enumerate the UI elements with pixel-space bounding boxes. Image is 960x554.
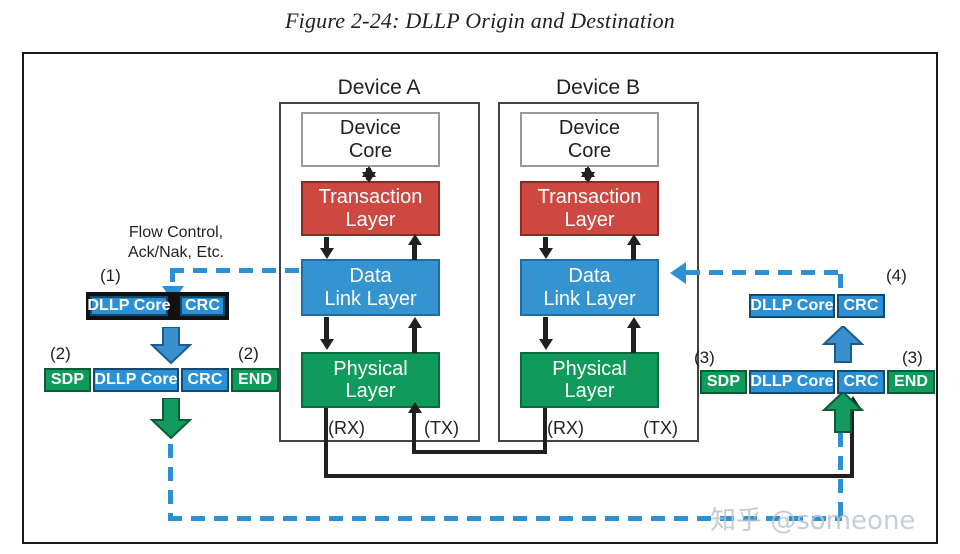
device-a-dll-tx-up-arrow-icon (408, 234, 422, 245)
origin-green-down-arrow-icon (150, 398, 192, 440)
device-a-dll-phy-down-arrow-icon (320, 339, 334, 350)
device-a-core-line2: Core (349, 140, 392, 162)
device-a-tx-arrow-icon (408, 402, 422, 413)
dllp-origin-dashed-horizontal (170, 268, 302, 273)
device-b-core-line1: Device (559, 117, 620, 139)
origin-blue-down-arrow-icon (150, 327, 192, 365)
device-a-phy-line2: Layer (345, 380, 395, 402)
link-a-tx-vertical (412, 408, 416, 454)
device-b-dll-tx-up-arrow-icon (627, 234, 641, 245)
device-b-tx-line1: Transaction (538, 186, 642, 208)
device-b-title: Device B (518, 76, 678, 100)
dest-framed-dllp-core-cell: DLLP Core (749, 370, 835, 394)
page-title: Figure 2-24: DLLP Origin and Destination (0, 8, 960, 34)
device-a-transaction-layer: Transaction Layer (301, 181, 440, 236)
device-b-transaction-layer: Transaction Layer (520, 181, 659, 236)
device-b-core-up-arrow-icon (581, 166, 595, 177)
origin-framed-sdp-cell: SDP (44, 368, 91, 392)
origin-framed-dllp-core-cell: DLLP Core (93, 368, 179, 392)
dest-blue-up-arrow-icon (822, 326, 864, 364)
device-b-dll-line1: Data (568, 265, 610, 287)
device-b-phy-line1: Physical (552, 358, 626, 380)
device-a-phy-dll-up-arrow-icon (408, 317, 422, 328)
device-b-core-line2: Core (568, 140, 611, 162)
dest-framed-crc-cell: CRC (837, 370, 885, 394)
device-a-core-up-arrow-icon (362, 166, 376, 177)
origin-framed-end-cell: END (231, 368, 279, 392)
device-b-dll-phy-down-arrow-icon (539, 339, 553, 350)
dest-green-up-arrow-icon (822, 392, 864, 434)
device-a-tx-label: (TX) (424, 418, 459, 439)
dest-framed-sdp-cell: SDP (700, 370, 747, 394)
device-a-tx-line2: Layer (345, 209, 395, 231)
watermark: 知乎 @someone (710, 500, 915, 537)
step-2-left-tag: (2) (50, 344, 71, 364)
step-3-right-tag: (3) (902, 348, 923, 368)
device-b-dll-line2: Link Layer (543, 288, 635, 310)
dest-dashed-vertical (838, 274, 843, 296)
dest-dllp-crc-cell: CRC (837, 294, 885, 318)
link-b-rx-vertical (543, 408, 547, 454)
device-a-rx-label: (RX) (328, 418, 365, 439)
origin-framed-crc-cell: CRC (181, 368, 229, 392)
device-b-device-core: Device Core (520, 112, 659, 167)
step-3-left-tag: (3) (694, 348, 715, 368)
device-b-tx-label: (TX) (643, 418, 678, 439)
flow-control-line2: Ack/Nak, Etc. (106, 243, 246, 263)
step-1-tag: (1) (100, 266, 121, 286)
link-b-rx-horizontal (412, 450, 547, 454)
device-a-dll-line1: Data (349, 265, 391, 287)
device-a-tx-line1: Transaction (319, 186, 423, 208)
link-a-rx-horizontal (324, 474, 854, 478)
device-a-data-link-layer: Data Link Layer (301, 259, 440, 316)
step-4-tag: (4) (886, 266, 907, 286)
device-b-phy-line2: Layer (564, 380, 614, 402)
bottom-return-dashed-vertical-left (168, 444, 173, 520)
device-b-data-link-layer: Data Link Layer (520, 259, 659, 316)
device-a-dll-phy-down-line (324, 317, 329, 341)
origin-dllp-core-cell: DLLP Core (90, 296, 168, 316)
device-b-dll-phy-down-line (543, 317, 548, 341)
link-a-rx-vertical (324, 408, 328, 478)
device-a-device-core: Device Core (301, 112, 440, 167)
device-a-tx-dll-down-arrow-icon (320, 248, 334, 259)
flow-control-label: Flow Control, Ack/Nak, Etc. (106, 223, 246, 263)
step-2-right-tag: (2) (238, 344, 259, 364)
device-b-phy-dll-up-arrow-icon (627, 317, 641, 328)
device-a-phy-line1: Physical (333, 358, 407, 380)
dest-dllp-core-cell: DLLP Core (749, 294, 835, 318)
dest-dashed-horizontal (686, 270, 842, 275)
device-b-tx-dll-down-arrow-icon (539, 248, 553, 259)
device-a-title: Device A (299, 76, 459, 100)
device-b-tx-line2: Layer (564, 209, 614, 231)
device-a-core-line1: Device (340, 117, 401, 139)
dest-dashed-arrow-icon (670, 262, 686, 284)
dllp-origin-dashed-vertical (170, 268, 175, 288)
device-b-physical-layer: Physical Layer (520, 352, 659, 408)
dest-framed-end-cell: END (887, 370, 935, 394)
flow-control-line1: Flow Control, (106, 223, 246, 243)
device-b-rx-label: (RX) (547, 418, 584, 439)
device-a-physical-layer: Physical Layer (301, 352, 440, 408)
origin-dllp-crc-cell: CRC (180, 296, 225, 316)
device-a-dll-line2: Link Layer (324, 288, 416, 310)
